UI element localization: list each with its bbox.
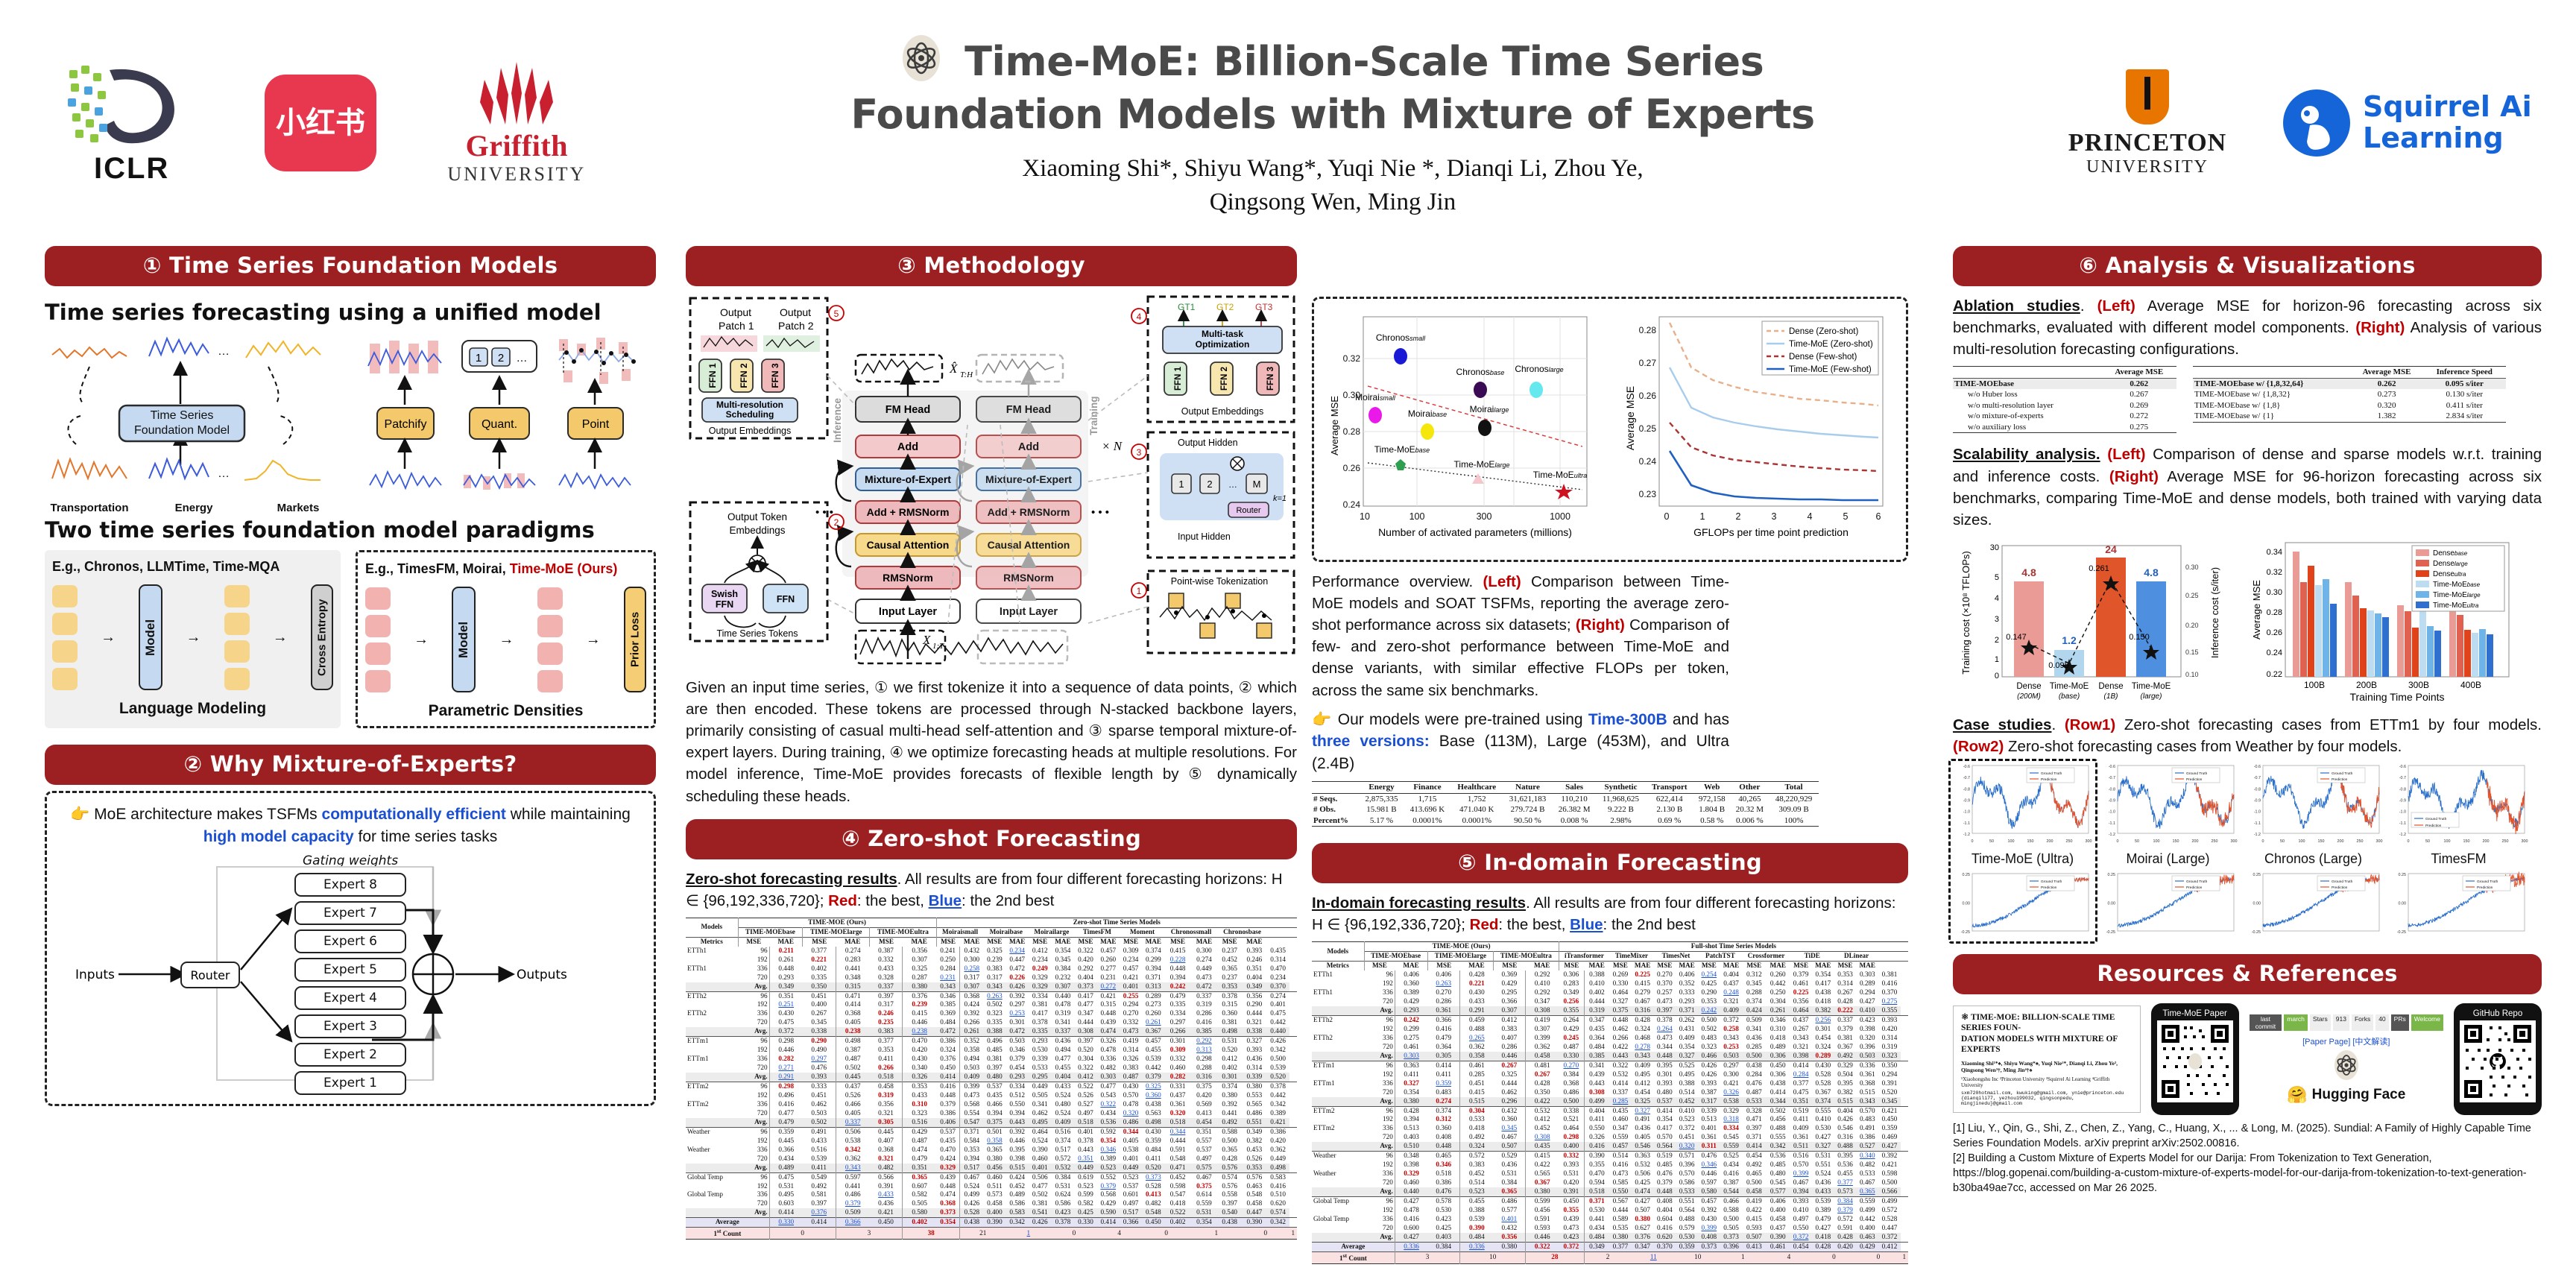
result-cell: 0.524 xyxy=(960,1182,984,1191)
svg-text:Causal Attention: Causal Attention xyxy=(867,539,950,551)
result-cell: 0.500 xyxy=(1720,1215,1742,1224)
result-cell: 0.373 xyxy=(1075,982,1097,991)
svg-text:0.27: 0.27 xyxy=(1639,358,1657,368)
result-cell: 0.349 xyxy=(1242,1127,1267,1136)
result-cell: 0.374 xyxy=(1743,997,1766,1006)
result-cell: 0.472 xyxy=(1006,1027,1029,1036)
result-cell: 0.365 xyxy=(1494,1187,1526,1196)
result-cell: 0.282 xyxy=(1165,1073,1191,1082)
count-cell: 10 xyxy=(1460,1251,1526,1263)
table-cell: TIME-MOEbase w/ {1,8} xyxy=(2193,400,2351,411)
table-row: 1920.4450.4330.5380.4070.4870.4350.5840.… xyxy=(686,1137,1297,1146)
result-cell: 0.437 xyxy=(1165,1091,1191,1100)
result-cell: 0.326 xyxy=(1584,1133,1609,1142)
result-cell: 0.351 xyxy=(1190,1127,1217,1136)
result-cell: 0.582 xyxy=(1075,1199,1097,1208)
dataset-name xyxy=(686,1109,738,1118)
svg-text:0.261: 0.261 xyxy=(2089,564,2109,573)
result-cell: 0.492 xyxy=(1460,1133,1494,1142)
section-6-header: ⑥ Analysis & Visualizations xyxy=(1953,246,2542,286)
result-cell: 0.307 xyxy=(960,982,984,991)
result-cell: 0.321 xyxy=(870,1109,903,1118)
result-cell: 0.507 xyxy=(1743,1233,1766,1242)
dataset-col-header: Total xyxy=(1769,782,1819,794)
svg-text:0.00: 0.00 xyxy=(2399,902,2407,906)
svg-text:0.10: 0.10 xyxy=(2185,671,2199,678)
result-cell: 0.321 xyxy=(1242,1018,1267,1027)
svg-text:50: 50 xyxy=(1989,839,1994,844)
result-cell: 0.409 xyxy=(1676,1034,1698,1043)
result-cell: 0.383 xyxy=(870,1027,903,1036)
result-cell: 0.528 xyxy=(1812,1070,1834,1079)
svg-text:Training Time Points: Training Time Points xyxy=(2349,691,2444,703)
result-cell: 0.464 xyxy=(1790,1006,1811,1015)
result-cell: 0.461 xyxy=(1460,1061,1494,1070)
horizon-label: Avg. xyxy=(738,1073,769,1082)
result-cell: 0.591 xyxy=(1834,1224,1856,1233)
result-cell: 0.389 xyxy=(1812,1206,1834,1215)
result-cell: 0.231 xyxy=(1096,973,1120,982)
paradigm-b-model: Model xyxy=(452,587,476,692)
result-cell: 0.346 xyxy=(1006,1046,1029,1055)
result-cell: 0.321 xyxy=(1790,1043,1811,1052)
result-cell: 0.480 xyxy=(1051,1100,1074,1109)
result-cell: 0.479 xyxy=(903,1155,936,1164)
table-row: 1920.2510.4000.4140.3170.2390.3850.4240.… xyxy=(686,1000,1297,1009)
expert-2[interactable]: Expert 2 xyxy=(294,1043,406,1067)
dataset-name xyxy=(686,982,738,991)
result-cell: 0.531 xyxy=(1559,1169,1584,1178)
result-cell: 0.444 xyxy=(1165,1137,1191,1146)
result-cell: 0.537 xyxy=(936,1127,960,1136)
result-cell: 0.253 xyxy=(1006,1009,1029,1018)
hugging-face-block[interactable]: last commit march Stars 913 Forks 40 PRs… xyxy=(2250,1014,2443,1105)
result-cell: 0.359 xyxy=(1427,1079,1459,1088)
result-cell: 0.405 xyxy=(836,1109,870,1118)
svg-text:0.095: 0.095 xyxy=(2048,661,2069,670)
result-cell: 0.435 xyxy=(1609,1106,1631,1115)
result-cell: 0.497 xyxy=(1120,1199,1142,1208)
result-cell: 0.414 xyxy=(769,1208,803,1217)
result-cell: 0.374 xyxy=(1051,1137,1074,1146)
result-cell: 0.505 xyxy=(1029,1091,1051,1100)
result-cell: 0.272 xyxy=(1096,982,1120,991)
result-cell: 0.364 xyxy=(1427,1043,1459,1052)
result-cell: 0.419 xyxy=(1120,1037,1142,1046)
sec4-red-rest: : the best, xyxy=(857,892,929,909)
result-cell: 0.513 xyxy=(1395,1124,1427,1133)
svg-text:1:T: 1:T xyxy=(932,642,944,651)
svg-text:-1.0: -1.0 xyxy=(2254,810,2261,815)
result-cell: 0.416 xyxy=(1720,1169,1742,1178)
result-cell: 0.418 xyxy=(1165,1199,1191,1208)
expert-3[interactable]: Expert 3 xyxy=(294,1014,406,1038)
result-cell: 0.487 xyxy=(1743,1088,1766,1097)
result-cell: 0.392 xyxy=(960,1009,984,1018)
average-cell: 0.428 xyxy=(1812,1242,1834,1251)
result-cell: 0.338 xyxy=(803,1027,836,1036)
ablation-tables: Average MSE TIME-MOEbase0.262w/o Huber l… xyxy=(1953,366,2542,433)
result-cell: 0.437 xyxy=(1720,979,1742,988)
expert-6[interactable]: Expert 6 xyxy=(294,929,406,953)
result-cell: 0.415 xyxy=(1632,979,1654,988)
table-cell: 90.50 % xyxy=(1503,815,1553,827)
result-cell: 0.343 xyxy=(984,982,1006,991)
table-cell: 279.724 B xyxy=(1503,804,1553,815)
result-cell: 0.518 xyxy=(870,1073,903,1082)
result-cell: 0.533 xyxy=(1856,1169,1878,1178)
result-cell: 0.241 xyxy=(936,947,960,956)
result-cell: 0.351 xyxy=(769,991,803,1000)
griffith-name: Griffith xyxy=(423,128,610,163)
result-cell: 0.410 xyxy=(1790,1206,1811,1215)
result-cell: 0.409 xyxy=(1790,1124,1811,1133)
horizon-label: Avg. xyxy=(1364,1052,1395,1061)
result-cell: 0.315 xyxy=(1217,1000,1242,1009)
count-cell: 0 xyxy=(1051,1228,1096,1240)
svg-text:4.8: 4.8 xyxy=(2144,566,2159,578)
dataset-name xyxy=(686,1118,738,1127)
qr-github-label: GitHub Repo xyxy=(2460,1009,2536,1018)
result-cell: 0.368 xyxy=(960,991,984,1000)
result-cell: 0.399 xyxy=(1698,1224,1720,1233)
result-cell: 0.343 xyxy=(936,982,960,991)
result-cell: 0.429 xyxy=(1494,979,1526,988)
average-label: Average xyxy=(686,1218,769,1228)
average-cell: 0.384 xyxy=(1427,1242,1459,1251)
authors: Xiaoming Shi*, Shiyu Wang*, Yuqi Nie *, … xyxy=(656,152,2010,218)
horizon-label: 336 xyxy=(738,1100,769,1109)
result-cell: 0.315 xyxy=(1096,1000,1120,1009)
result-cell: 0.567 xyxy=(1609,1197,1631,1206)
token xyxy=(365,587,391,610)
result-cell: 0.390 xyxy=(1584,1152,1609,1161)
qr-paper[interactable]: Time-MoE Paper xyxy=(2151,1003,2239,1115)
result-cell: 0.283 xyxy=(836,956,870,965)
table-row: TIME-MOEbase w/ {1}1.3822.834 s/iter xyxy=(2193,411,2506,422)
result-cell: 0.464 xyxy=(1029,1127,1051,1136)
result-cell: 0.407 xyxy=(870,1137,903,1146)
result-cell: 0.600 xyxy=(1395,1224,1427,1233)
result-cell: 0.546 xyxy=(1834,1124,1856,1133)
result-cell: 0.360 xyxy=(1427,1124,1459,1133)
table-cell: 0.275 xyxy=(2102,422,2176,433)
result-cell: 0.447 xyxy=(1006,956,1029,965)
result-cell: 0.502 xyxy=(984,1000,1006,1009)
result-cell: 0.375 xyxy=(1609,1006,1631,1015)
table-cell: 1,715 xyxy=(1404,793,1450,804)
result-cell: 0.478 xyxy=(1096,1046,1120,1055)
hf-links[interactable]: [Paper Page] [中文解读] xyxy=(2250,1035,2443,1047)
group-ours: TIME-MOE (Ours) xyxy=(738,918,936,927)
moe-note: 👉 MoE architecture makes TSFMs computati… xyxy=(60,804,640,849)
result-cell: 0.296 xyxy=(1494,1097,1526,1106)
result-cell: 0.531 xyxy=(1051,1182,1074,1191)
table-row: ETTm2960.4280.3740.3040.4320.5320.3380.4… xyxy=(1312,1106,1908,1115)
dataset-name xyxy=(686,1027,738,1036)
result-cell: 0.345 xyxy=(1878,1097,1900,1106)
result-cell: 0.425 xyxy=(1632,1178,1654,1187)
result-cell: 0.472 xyxy=(936,1027,960,1036)
result-cell: 0.261 xyxy=(769,956,803,965)
result-cell: 0.378 xyxy=(1217,991,1242,1000)
chart-training-inference-cost: 30543210 0.300.250.200.150.10 Training c… xyxy=(1953,535,2236,705)
expert-7[interactable]: Expert 7 xyxy=(294,901,406,925)
svg-text:Multi-resolution: Multi-resolution xyxy=(716,400,783,410)
expert-1[interactable]: Expert 1 xyxy=(294,1071,406,1095)
result-cell: 0.430 xyxy=(1698,1215,1720,1224)
svg-text:Dense (Zero-shot): Dense (Zero-shot) xyxy=(1789,327,1858,336)
result-cell: 0.416 xyxy=(769,1100,803,1109)
result-cell: 0.473 xyxy=(1654,1034,1676,1043)
result-cell: 0.550 xyxy=(1609,1187,1631,1196)
expert-8[interactable]: Expert 8 xyxy=(294,873,406,897)
result-cell: 0.300 xyxy=(1190,947,1217,956)
case-cell: -0.6-0.7-0.8-0.9-1.0-1.1-1.2050100150200… xyxy=(2389,762,2528,867)
result-cell: 0.417 xyxy=(1029,1009,1051,1018)
princeton-sub: UNIVERSITY xyxy=(2036,157,2259,177)
result-cell: 0.530 xyxy=(1812,1124,1834,1133)
result-cell: 0.484 xyxy=(1460,1233,1494,1242)
svg-text:Input Layer: Input Layer xyxy=(1000,606,1058,618)
result-cell: 0.308 xyxy=(1584,1088,1609,1097)
table-row: TIME-MOEbase w/ {1,8}0.3200.411 s/iter xyxy=(2193,400,2506,411)
case-model-label: Time-MoE (Ultra) xyxy=(1953,851,2092,867)
table-row: w/o Huber loss0.267 xyxy=(1953,389,2176,400)
result-cell: 0.487 xyxy=(903,1137,936,1146)
result-cell: 0.451 xyxy=(803,991,836,1000)
result-cell: 0.386 xyxy=(936,1037,960,1046)
svg-text:Training: Training xyxy=(1088,396,1099,435)
result-cell: 0.380 xyxy=(1632,1215,1654,1224)
result-cell: 0.582 xyxy=(903,1190,936,1199)
svg-text:Time-MoE (Zero-shot): Time-MoE (Zero-shot) xyxy=(1789,340,1873,349)
result-cell: 0.532 xyxy=(1051,1164,1074,1172)
case-model-label: Moirai (Large) xyxy=(2098,851,2238,867)
result-cell: 0.428 xyxy=(1460,970,1494,979)
expert-4[interactable]: Expert 4 xyxy=(294,986,406,1010)
table-row: 7200.4290.2860.4330.3660.3470.2560.4440.… xyxy=(1312,997,1908,1006)
perf-caption-lead: Performance overview. xyxy=(1312,573,1483,590)
moe-note-part2: while maintaining xyxy=(506,806,631,823)
result-cell: 0.324 xyxy=(1632,1025,1654,1034)
result-cell: 0.382 xyxy=(1834,1088,1856,1097)
result-cell: 0.442 xyxy=(1142,1064,1165,1073)
average-cell: 0.373 xyxy=(1698,1242,1720,1251)
svg-text:GT2: GT2 xyxy=(1216,302,1234,312)
result-cell: 0.430 xyxy=(1142,1127,1165,1136)
result-cell: 0.478 xyxy=(1395,1206,1427,1215)
result-cell: 0.361 xyxy=(1427,1006,1459,1015)
result-cell: 0.419 xyxy=(1526,1016,1559,1025)
group-ours: TIME-MOE (Ours) xyxy=(1364,942,1559,952)
result-cell: 0.424 xyxy=(960,1000,984,1009)
svg-text:Embeddings: Embeddings xyxy=(729,525,785,536)
atom-icon-small: ⚛ xyxy=(1961,1013,1969,1022)
result-cell: 0.579 xyxy=(1676,1224,1698,1233)
result-cell: 0.518 xyxy=(1075,1118,1097,1127)
horizon-label: Avg. xyxy=(738,982,769,991)
result-cell: 0.314 xyxy=(1267,956,1289,965)
result-cell: 0.347 xyxy=(1526,997,1559,1006)
svg-text:Ground Truth: Ground Truth xyxy=(2186,771,2208,776)
result-cell: 0.470 xyxy=(1584,1169,1609,1178)
result-cell: 0.337 xyxy=(836,1118,870,1127)
dataset-name xyxy=(1312,1233,1364,1242)
result-cell: 0.381 xyxy=(1217,1018,1242,1027)
result-cell: 0.476 xyxy=(1698,1152,1720,1161)
case-cell: 0.250.00-0.25 Ground Truth Prediction xyxy=(2244,870,2383,947)
result-cell: 0.536 xyxy=(1834,1161,1856,1169)
svg-text:200B: 200B xyxy=(2356,680,2377,690)
dataset-name: ETTh1 xyxy=(686,965,738,973)
table-row: Global Temp960.4270.5780.4550.4860.5990.… xyxy=(1312,1197,1908,1206)
result-cell: 0.306 xyxy=(1766,1052,1790,1061)
result-cell: 0.326 xyxy=(903,1073,936,1082)
result-cell: 0.499 xyxy=(960,1190,984,1199)
result-cell: 0.405 xyxy=(836,1018,870,1027)
result-cell: 0.364 xyxy=(1584,1034,1609,1043)
svg-text:0.22: 0.22 xyxy=(2267,670,2282,679)
table-cell: # Obs. xyxy=(1312,804,1360,815)
result-cell: 0.487 xyxy=(1559,1043,1584,1052)
result-cell: 0.343 xyxy=(836,1164,870,1172)
result-cell: 0.564 xyxy=(1676,1206,1698,1215)
svg-text:-0.6: -0.6 xyxy=(2109,765,2115,769)
result-cell: 0.472 xyxy=(1190,982,1217,991)
result-cell: 0.325 xyxy=(903,965,936,973)
result-cell: 0.314 xyxy=(1120,1046,1142,1055)
result-cell: 0.480 xyxy=(1654,1088,1676,1097)
result-cell: 0.423 xyxy=(1427,1215,1459,1224)
case-studies-caption: Case studies. (Row1) Zero-shot forecasti… xyxy=(1953,714,2542,757)
result-cell: 0.433 xyxy=(1812,1187,1834,1196)
result-cell: 0.511 xyxy=(1790,1142,1811,1151)
result-cell: 0.434 xyxy=(1584,1224,1609,1233)
result-cell: 0.482 xyxy=(1142,1199,1165,1208)
result-cell: 0.242 xyxy=(1165,982,1191,991)
result-cell: 0.438 xyxy=(1743,1061,1766,1070)
result-cell: 0.500 xyxy=(1217,1137,1242,1146)
result-cell: 0.361 xyxy=(1790,1133,1811,1142)
horizon-label: 96 xyxy=(738,1172,769,1181)
svg-text:Mixture-of-Expert: Mixture-of-Expert xyxy=(865,473,951,485)
result-cell: 0.547 xyxy=(960,1118,984,1127)
result-cell: 0.395 xyxy=(1834,1152,1856,1161)
result-cell: 0.353 xyxy=(1698,997,1720,1006)
result-cell: 0.599 xyxy=(1526,1197,1559,1206)
result-cell: 0.537 xyxy=(984,1082,1006,1091)
result-cell: 0.422 xyxy=(1743,1206,1766,1215)
table-cell: 0.58 % xyxy=(1693,815,1731,827)
result-cell: 0.620 xyxy=(1654,1233,1676,1242)
result-cell: 0.383 xyxy=(1460,1161,1494,1169)
dataset-name: ETTm1 xyxy=(686,1055,738,1064)
result-cell: 0.482 xyxy=(870,1164,903,1172)
qr-github[interactable]: GitHub Repo xyxy=(2454,1003,2542,1115)
result-cell: 0.466 xyxy=(836,1100,870,1109)
result-cell: 0.398 xyxy=(1790,1052,1811,1061)
paradigm-a-output-tokens xyxy=(224,585,250,690)
table-row: Weather960.3590.4910.5060.4450.4290.5370… xyxy=(686,1127,1297,1136)
result-cell: 0.506 xyxy=(1632,1169,1654,1178)
result-cell: 0.522 xyxy=(1165,1208,1191,1217)
table-row: Avg.0.4270.4030.4840.3560.4460.4230.4840… xyxy=(1312,1233,1908,1242)
badge-stars-label: Stars xyxy=(2310,1014,2331,1031)
result-cell: 0.494 xyxy=(1051,1046,1074,1055)
result-cell: 0.479 xyxy=(1812,1215,1834,1224)
result-cell: 0.387 xyxy=(1720,1178,1742,1187)
result-cell: 0.226 xyxy=(1006,973,1029,982)
result-cell: 0.432 xyxy=(960,947,984,956)
result-cell: 0.446 xyxy=(1494,1052,1526,1061)
svg-text:-0.8: -0.8 xyxy=(2109,787,2115,792)
result-cell: 0.477 xyxy=(1029,1182,1051,1191)
pretrain-note: 👉 Our models were pre-trained using Time… xyxy=(1312,709,1729,775)
case-cell: 0.250.00-0.25 Ground Truth Prediction xyxy=(2389,870,2528,947)
table-row-average: Average0.3300.4140.3660.4500.4020.3540.4… xyxy=(686,1218,1297,1228)
result-cell: 0.380 xyxy=(1242,1082,1267,1091)
result-cell: 0.410 xyxy=(1526,979,1559,988)
result-cell: 0.563 xyxy=(1142,1109,1165,1118)
result-cell: 0.514 xyxy=(1676,1088,1698,1097)
result-cell: 0.368 xyxy=(836,1009,870,1018)
result-cell: 0.446 xyxy=(1006,1137,1029,1146)
result-cell: 0.374 xyxy=(1427,1106,1459,1115)
result-cell: 0.379 xyxy=(1654,1178,1676,1187)
table-cell: TIME-MOEbase w/ {1,8,32,64} xyxy=(2193,378,2351,389)
result-cell: 0.421 xyxy=(870,1208,903,1217)
result-cell: 0.516 xyxy=(1790,1152,1811,1161)
result-cell: 0.448 xyxy=(936,1182,960,1191)
expert-5[interactable]: Expert 5 xyxy=(294,958,406,982)
result-cell: 0.460 xyxy=(1609,1115,1631,1124)
result-cell: 0.293 xyxy=(769,973,803,982)
result-cell: 0.574 xyxy=(1267,1208,1289,1217)
result-cell: 0.395 xyxy=(1654,1061,1676,1070)
result-cell: 0.292 xyxy=(1190,1037,1217,1046)
svg-text:0.24: 0.24 xyxy=(1343,499,1361,510)
result-cell: 0.303 xyxy=(1856,970,1878,979)
table-row: ETTh23360.4300.2670.3680.2460.4150.3690.… xyxy=(686,1009,1297,1018)
result-cell: 0.399 xyxy=(960,1082,984,1091)
result-cell: 0.288 xyxy=(1190,1064,1217,1073)
result-cell: 0.594 xyxy=(1584,1178,1609,1187)
result-cell: 0.470 xyxy=(936,1146,960,1155)
svg-text:Add: Add xyxy=(1018,441,1039,453)
iclr-logo: ICLR xyxy=(46,61,218,186)
result-cell: 0.435 xyxy=(1584,1025,1609,1034)
result-cell: 0.422 xyxy=(1609,1043,1631,1052)
result-cell: 0.365 xyxy=(984,1146,1006,1155)
result-cell: 0.420 xyxy=(903,1046,936,1055)
result-cell: 0.320 xyxy=(1856,1034,1878,1043)
result-cell: 0.375 xyxy=(984,1118,1006,1127)
average-cell: 0.366 xyxy=(1120,1218,1142,1228)
result-cell: 0.394 xyxy=(1165,973,1191,982)
paper-thumbnail[interactable]: ⚛ TIME-MOE: BILLION-SCALE TIME SERIES FO… xyxy=(1953,1006,2141,1114)
x-axis-label: Number of activated parameters (millions… xyxy=(1378,526,1572,538)
svg-text:1: 1 xyxy=(1995,655,1999,664)
dataset-name: Global Temp xyxy=(686,1172,738,1181)
result-cell: 0.379 xyxy=(1834,1206,1856,1215)
result-cell: 0.372 xyxy=(769,1027,803,1036)
result-cell: 0.261 xyxy=(1766,1006,1790,1015)
result-cell: 0.304 xyxy=(1460,1106,1494,1115)
table-cell: 100% xyxy=(1769,815,1819,827)
result-cell: 0.421 xyxy=(1878,1161,1900,1169)
result-cell: 0.438 xyxy=(1812,988,1834,997)
